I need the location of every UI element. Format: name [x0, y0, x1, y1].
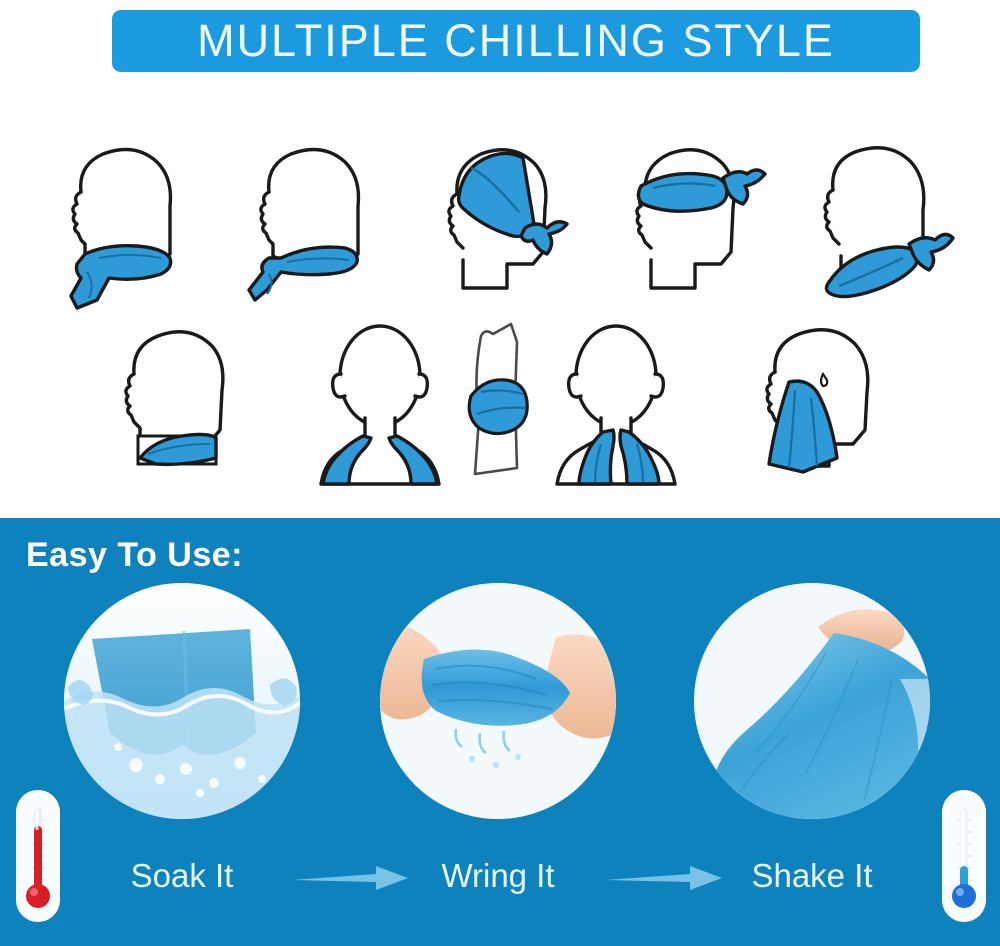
style-wrist-wrap — [455, 318, 541, 488]
step-label-soak: Soak It — [62, 850, 302, 902]
easy-to-use-section: Easy To Use: — [0, 518, 1000, 946]
style-head-wrap-bandana — [413, 132, 588, 307]
style-neck-scarf-front-knot — [225, 132, 400, 307]
style-shoulder-drape-long — [541, 318, 691, 488]
style-shoulder-drape-front — [305, 318, 455, 488]
photo-shake-it — [694, 583, 930, 819]
thermometer-hot-icon — [10, 786, 66, 926]
thermometer-cold-icon — [936, 786, 992, 926]
style-neck-gaiter — [90, 318, 265, 488]
page-title: MULTIPLE CHILLING STYLE — [197, 15, 835, 67]
photo-wring-it — [380, 583, 616, 819]
step-labels: Soak It Wring It Shake It — [0, 850, 1000, 910]
photo-soak-it — [64, 583, 300, 819]
style-neck-scarf-back-knot — [37, 132, 212, 307]
style-headband — [601, 132, 776, 307]
easy-to-use-heading: Easy To Use: — [26, 536, 243, 575]
step-label-wring: Wring It — [378, 850, 618, 902]
styles-row-1 — [0, 132, 1000, 307]
title-banner: MULTIPLE CHILLING STYLE — [112, 10, 920, 72]
styles-row-2 — [0, 318, 1000, 488]
style-neck-tie-band — [789, 132, 964, 307]
chilling-styles-section: MULTIPLE CHILLING STYLE — [0, 0, 1000, 518]
step-label-shake: Shake It — [692, 850, 932, 902]
style-face-wipe — [731, 318, 911, 488]
product-infographic: MULTIPLE CHILLING STYLE — [0, 0, 1000, 946]
